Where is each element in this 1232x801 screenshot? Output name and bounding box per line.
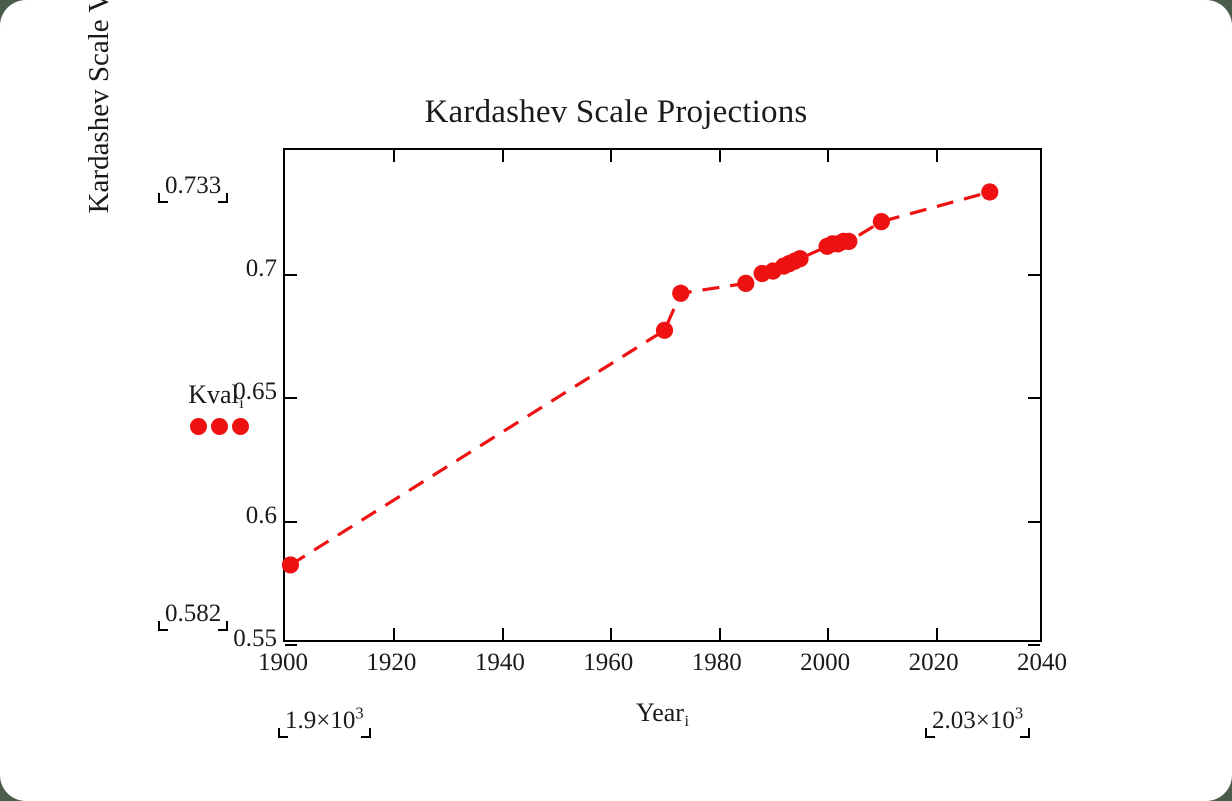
- x-axis-min-annotation[interactable]: 1.9×103: [278, 704, 371, 738]
- plot-page: Kardashev Scale Projections Kardashev Sc…: [0, 0, 1232, 801]
- x-axis-label-text: Year: [636, 698, 684, 727]
- x-tick-label: 2020: [874, 649, 994, 677]
- y-tick-label: 0.6: [246, 502, 277, 530]
- y-axis-max-annotation[interactable]: 0.733: [158, 172, 228, 203]
- x-axis-max-annotation[interactable]: 2.03×103: [925, 704, 1030, 738]
- legend-marker-dot: [232, 418, 249, 435]
- y-axis-max-annotation-value: 0.733: [165, 172, 221, 199]
- data-series-layer: [285, 150, 1044, 644]
- series-marker-group: [282, 183, 999, 573]
- data-point-marker[interactable]: [840, 233, 857, 250]
- bracket-left-icon: [925, 728, 935, 738]
- x-tick-label: 1940: [440, 649, 560, 677]
- x-axis-label-subscript: i: [684, 713, 689, 730]
- legend-series-name: Kval: [188, 380, 239, 409]
- bracket-right-icon: [361, 728, 371, 738]
- x-tick-label: 2000: [765, 649, 885, 677]
- bracket-right-icon: [218, 193, 228, 203]
- legend-swatch: [162, 417, 270, 439]
- y-axis-min-annotation[interactable]: 0.582: [158, 600, 228, 631]
- data-point-marker[interactable]: [981, 183, 998, 200]
- page-title: Kardashev Scale Projections: [0, 94, 1232, 131]
- x-tick-label: 1920: [331, 649, 451, 677]
- bracket-left-icon: [278, 728, 288, 738]
- x-axis-min-annotation-value: 1.9×103: [285, 707, 364, 734]
- y-tick-mark: [285, 644, 297, 646]
- x-tick-label: 1980: [657, 649, 777, 677]
- data-point-marker[interactable]: [672, 285, 689, 302]
- legend-marker-dot: [211, 418, 228, 435]
- legend-marker-dot: [190, 418, 207, 435]
- plot-area[interactable]: [283, 148, 1042, 642]
- data-point-marker[interactable]: [737, 275, 754, 292]
- x-tick-label: 1960: [548, 649, 668, 677]
- data-point-marker[interactable]: [873, 213, 890, 230]
- data-point-marker[interactable]: [791, 250, 808, 267]
- bracket-left-icon: [158, 621, 168, 631]
- y-tick-label: 0.65: [233, 378, 277, 406]
- y-tick-label: 0.7: [246, 255, 277, 283]
- bracket-right-icon: [218, 621, 228, 631]
- data-point-marker[interactable]: [282, 556, 299, 573]
- x-tick-label: 1900: [223, 649, 343, 677]
- series-line-kval: [290, 192, 989, 565]
- x-axis-max-annotation-value: 2.03×103: [932, 707, 1023, 734]
- bracket-left-icon: [158, 193, 168, 203]
- x-tick-label: 2040: [982, 649, 1102, 677]
- y-axis-label: Kardashev Scale Value: [83, 0, 123, 260]
- bracket-right-icon: [1020, 728, 1030, 738]
- y-tick-mark: [1028, 644, 1040, 646]
- y-axis-min-annotation-value: 0.582: [165, 600, 221, 627]
- data-point-marker[interactable]: [656, 322, 673, 339]
